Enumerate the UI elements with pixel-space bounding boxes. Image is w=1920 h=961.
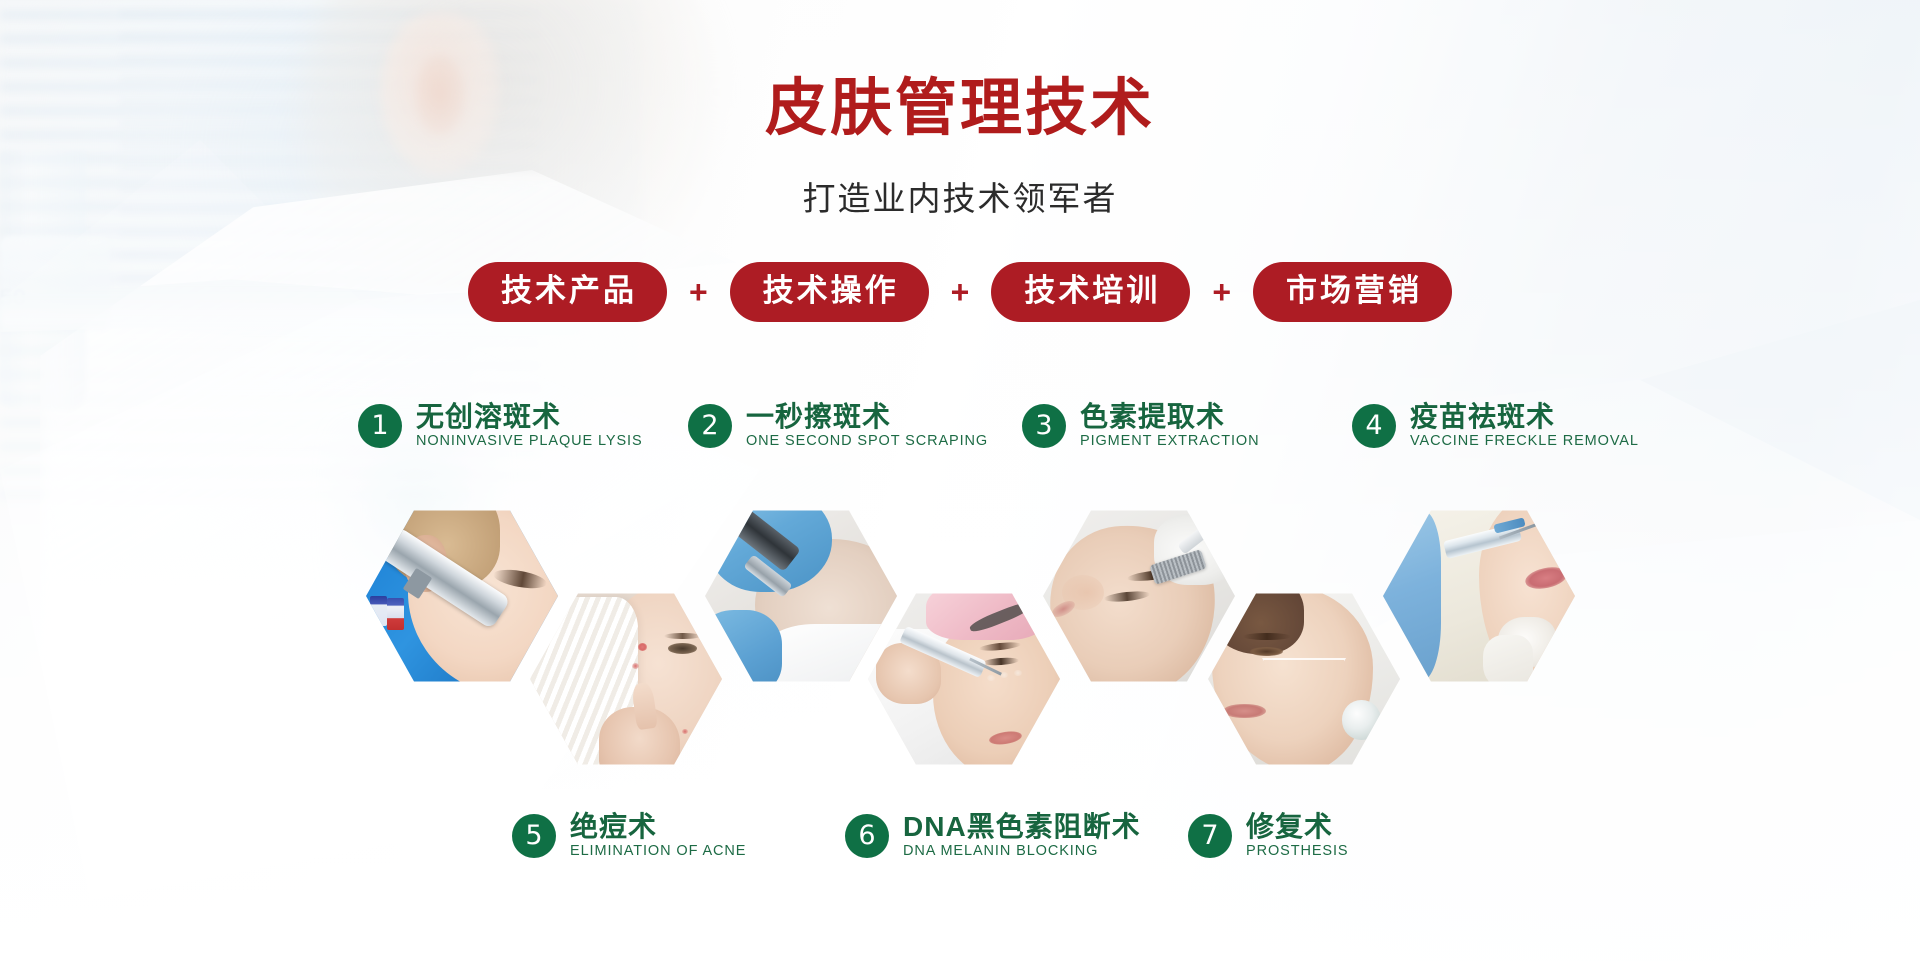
photo-hex-4	[868, 590, 1060, 768]
plus-separator-icon: +	[667, 276, 730, 308]
technique-title-en-7: PROSTHESIS	[1246, 844, 1348, 859]
page-title: 皮肤管理技术	[0, 78, 1920, 140]
photo-hex-2	[530, 590, 722, 768]
pill-tech-operation[interactable]: 技术操作	[730, 262, 929, 322]
technique-label-2[interactable]: 2 一秒擦斑术 ONE SECOND SPOT SCRAPING	[688, 402, 988, 450]
technique-title-cn-6: DNA黑色素阻断术	[903, 812, 1141, 841]
pill-tech-product[interactable]: 技术产品	[468, 262, 667, 322]
plus-separator-icon: +	[929, 276, 992, 308]
technique-title-cn-4: 疫苗祛斑术	[1410, 402, 1639, 431]
technique-label-6[interactable]: 6 DNA黑色素阻断术 DNA MELANIN BLOCKING	[845, 812, 1141, 860]
photo-hex-7	[1383, 507, 1575, 685]
technique-title-en-4: VACCINE FRECKLE REMOVAL	[1410, 434, 1639, 449]
pill-marketing[interactable]: 市场营销	[1253, 262, 1452, 322]
technique-title-en-1: NONINVASIVE PLAQUE LYSIS	[416, 434, 643, 449]
photo-hex-5	[1043, 507, 1235, 685]
technique-number-2: 2	[688, 404, 732, 448]
technique-label-7[interactable]: 7 修复术 PROSTHESIS	[1188, 812, 1348, 860]
photo-hex-6	[1208, 590, 1400, 768]
technique-number-1: 1	[358, 404, 402, 448]
plus-separator-icon: +	[1190, 276, 1253, 308]
technique-number-4: 4	[1352, 404, 1396, 448]
technique-number-3: 3	[1022, 404, 1066, 448]
technique-title-cn-5: 绝痘术	[570, 812, 746, 841]
technique-title-cn-2: 一秒擦斑术	[746, 402, 988, 431]
technique-label-4[interactable]: 4 疫苗祛斑术 VACCINE FRECKLE REMOVAL	[1352, 402, 1639, 450]
technique-title-en-6: DNA MELANIN BLOCKING	[903, 844, 1141, 859]
technique-number-5: 5	[512, 814, 556, 858]
technique-label-5[interactable]: 5 绝痘术 ELIMINATION OF ACNE	[512, 812, 746, 860]
technique-label-1[interactable]: 1 无创溶斑术 NONINVASIVE PLAQUE LYSIS	[358, 402, 643, 450]
photo-hex-1	[366, 507, 558, 685]
technique-title-en-5: ELIMINATION OF ACNE	[570, 844, 746, 859]
technique-title-cn-1: 无创溶斑术	[416, 402, 643, 431]
technique-number-6: 6	[845, 814, 889, 858]
page-subtitle: 打造业内技术领军者	[0, 182, 1920, 215]
pill-tech-training[interactable]: 技术培训	[991, 262, 1190, 322]
technique-title-cn-7: 修复术	[1246, 812, 1348, 841]
technique-label-3[interactable]: 3 色素提取术 PIGMENT EXTRACTION	[1022, 402, 1259, 450]
technique-title-en-3: PIGMENT EXTRACTION	[1080, 434, 1259, 449]
photo-hex-3	[705, 507, 897, 685]
technique-title-en-2: ONE SECOND SPOT SCRAPING	[746, 434, 988, 449]
skin-management-banner: 50 皮肤管理技术 打造业内技术领军者 技术产品 + 技术操作 + 技术培训 +…	[0, 0, 1920, 961]
technique-number-7: 7	[1188, 814, 1232, 858]
technique-title-cn-3: 色素提取术	[1080, 402, 1259, 431]
service-pill-row: 技术产品 + 技术操作 + 技术培训 + 市场营销	[0, 262, 1920, 322]
